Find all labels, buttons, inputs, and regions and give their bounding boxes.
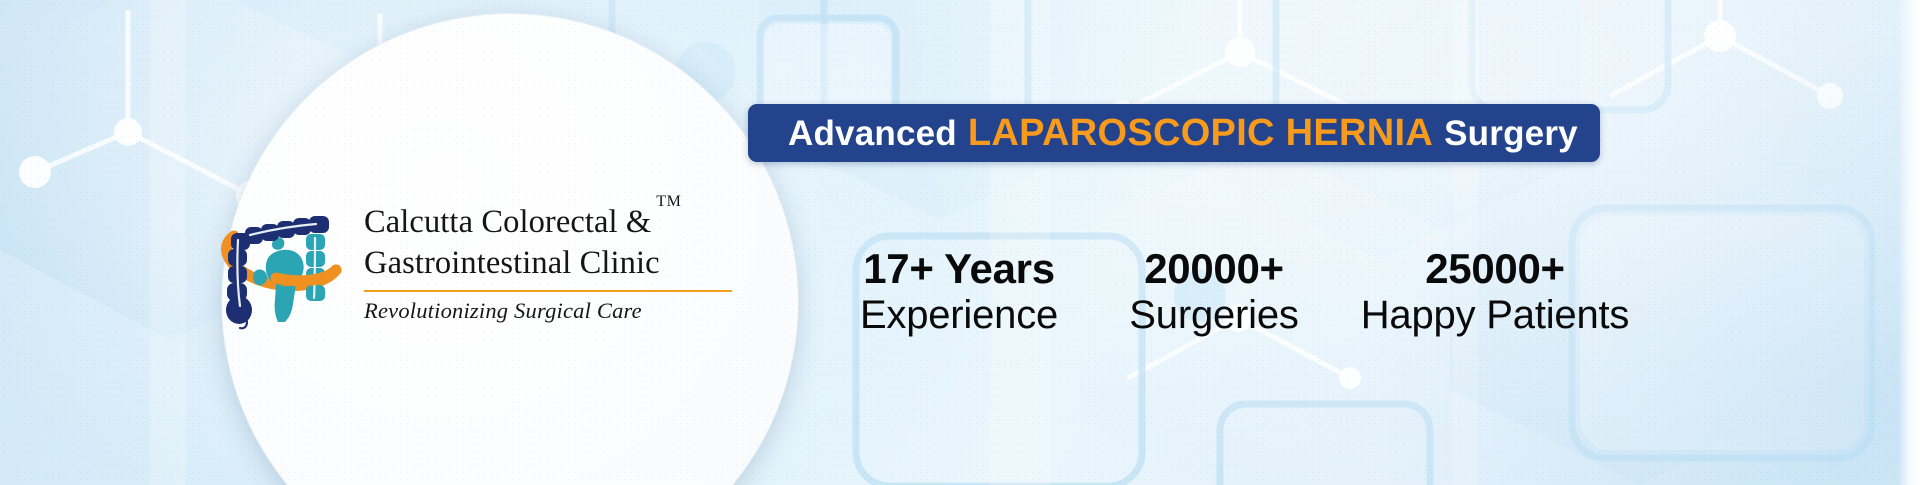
clinic-logo[interactable]: Calcutta Colorectal & TM Gastrointestina… bbox=[210, 188, 732, 338]
stat-label: Surgeries bbox=[1129, 291, 1298, 340]
headline-suffix: Surgery bbox=[1444, 116, 1578, 151]
background-right-fade bbox=[1898, 0, 1920, 485]
logo-line-1: Calcutta Colorectal & bbox=[364, 204, 651, 240]
headline-prefix: Advanced bbox=[788, 116, 957, 151]
logo-wordmark: Calcutta Colorectal & TM Gastrointestina… bbox=[364, 202, 732, 325]
logo-line-2: Gastrointestinal Clinic bbox=[364, 243, 732, 284]
stat-label: Happy Patients bbox=[1361, 291, 1629, 340]
trademark-symbol: TM bbox=[656, 192, 681, 212]
headline-banner: Advanced LAPAROSCOPIC HERNIA Surgery bbox=[748, 104, 1600, 162]
stat-item-experience: 17+ Years Experience bbox=[820, 246, 1098, 340]
stat-value: 17+ Years bbox=[863, 246, 1055, 291]
stat-item-happy-patients: 25000+ Happy Patients bbox=[1330, 246, 1660, 340]
stat-item-surgeries: 20000+ Surgeries bbox=[1098, 246, 1330, 340]
logo-divider bbox=[364, 290, 732, 292]
stat-value: 25000+ bbox=[1425, 246, 1565, 291]
stat-value: 20000+ bbox=[1144, 246, 1284, 291]
clinic-promo-banner: Calcutta Colorectal & TM Gastrointestina… bbox=[0, 0, 1920, 485]
logo-line-1-wrapper: Calcutta Colorectal & TM bbox=[364, 202, 732, 243]
logo-tagline: Revolutionizing Surgical Care bbox=[364, 298, 732, 324]
colon-stomach-orbit-icon bbox=[210, 188, 350, 338]
headline-accent: LAPAROSCOPIC HERNIA bbox=[968, 114, 1433, 152]
stats-row: 17+ Years Experience 20000+ Surgeries 25… bbox=[820, 246, 1660, 340]
stat-label: Experience bbox=[860, 291, 1058, 340]
